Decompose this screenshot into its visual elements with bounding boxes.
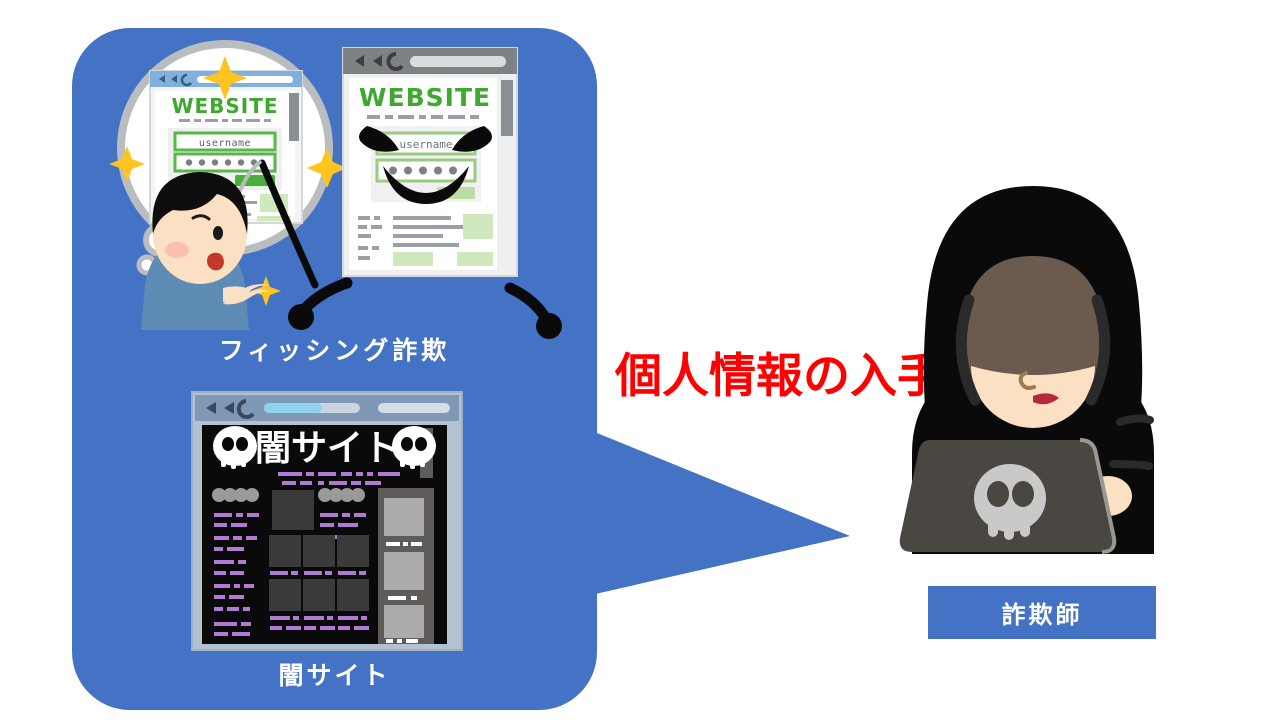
dark-web-site-illustration: 闇サイト <box>192 392 462 650</box>
dark-site-title: 闇サイト <box>255 428 399 469</box>
svg-text:username: username <box>199 138 251 149</box>
svg-text:WEBSITE: WEBSITE <box>359 83 491 112</box>
diagram-canvas: WEBSITE username <box>0 0 1280 720</box>
callout-tail-arrow <box>560 418 850 602</box>
fake-website-with-evil-face: WEBSITE username <box>288 48 562 339</box>
hooded-hacker-illustration <box>868 178 1198 578</box>
caption-dark-site: 闇サイト <box>72 656 597 692</box>
caption-phishing-scam: フィッシング詐欺 <box>72 331 597 367</box>
phishing-scam-illustration: WEBSITE username <box>105 38 555 328</box>
svg-text:username: username <box>400 138 453 151</box>
hacker-label-badge: 詐欺師 <box>928 586 1156 639</box>
